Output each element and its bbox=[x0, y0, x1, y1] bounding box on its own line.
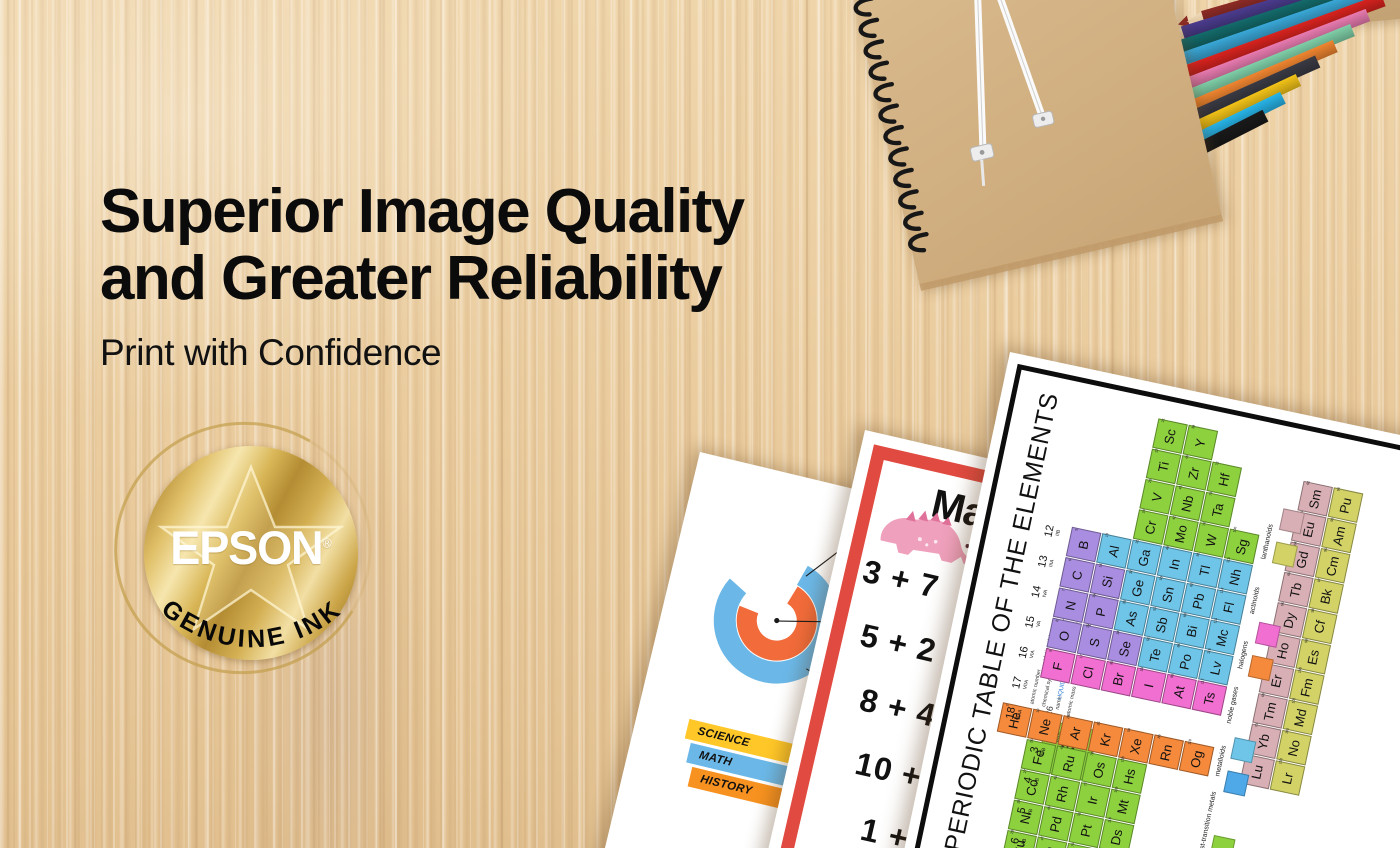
element-symbol: Ag bbox=[1039, 839, 1059, 848]
element-symbol: S bbox=[1084, 627, 1104, 658]
element-atomic-number: 31 bbox=[1135, 539, 1140, 544]
element-symbol: Po bbox=[1175, 646, 1195, 677]
headline-block: Superior Image Quality and Greater Relia… bbox=[100, 182, 744, 374]
element-symbol: Tb bbox=[1285, 575, 1305, 606]
element-symbol: Lv bbox=[1206, 653, 1226, 684]
element-symbol: Ge bbox=[1127, 573, 1147, 604]
element-atomic-number: 39 bbox=[1191, 424, 1196, 429]
element-symbol: Os bbox=[1089, 755, 1109, 786]
element-symbol: Rn bbox=[1156, 737, 1176, 768]
element-symbol: V bbox=[1147, 482, 1167, 513]
periodic-element-cell: Ts117 bbox=[1192, 680, 1228, 716]
element-atomic-number: 44 bbox=[1060, 745, 1065, 750]
element-atomic-number: 54 bbox=[1127, 728, 1132, 733]
legend-swatch bbox=[1272, 542, 1298, 568]
element-symbol: At bbox=[1169, 677, 1189, 708]
element-symbol: N bbox=[1060, 590, 1080, 621]
element-symbol: Tl bbox=[1195, 556, 1215, 587]
legend-swatch bbox=[1255, 622, 1281, 648]
element-symbol: Zr bbox=[1184, 458, 1204, 489]
element-symbol: Sc bbox=[1160, 421, 1180, 452]
element-symbol: Bk bbox=[1316, 581, 1336, 612]
element-atomic-number: 46 bbox=[1047, 806, 1052, 811]
element-atomic-number: 62 bbox=[1306, 481, 1311, 486]
element-symbol: O bbox=[1054, 621, 1074, 652]
periodic-element-cell: Rn86 bbox=[1148, 734, 1184, 770]
element-symbol: Pd bbox=[1046, 809, 1066, 840]
element-atomic-number: 35 bbox=[1109, 661, 1114, 666]
element-atomic-number: 86 bbox=[1157, 734, 1162, 739]
element-symbol: Ru bbox=[1058, 748, 1078, 779]
element-symbol: Y bbox=[1190, 428, 1210, 459]
element-atomic-number: 18 bbox=[1066, 715, 1071, 720]
element-symbol: Sm bbox=[1305, 484, 1325, 515]
genuine-ink-arc-text: GENUINE INK bbox=[116, 534, 388, 684]
element-symbol: Sg bbox=[1231, 532, 1251, 563]
periodic-element-cell: I53 bbox=[1131, 667, 1167, 703]
element-atomic-number: 45 bbox=[1053, 775, 1058, 780]
element-atomic-number: 51 bbox=[1152, 606, 1157, 611]
element-atomic-number: 97 bbox=[1317, 578, 1322, 583]
element-atomic-number: 73 bbox=[1209, 491, 1214, 496]
element-atomic-number: 77 bbox=[1083, 782, 1088, 787]
element-atomic-number: 52 bbox=[1146, 637, 1151, 642]
element-atomic-number: 16 bbox=[1085, 624, 1090, 629]
element-atomic-number: 42 bbox=[1172, 515, 1177, 520]
genuine-ink-label: GENUINE INK bbox=[156, 594, 347, 653]
element-atomic-number: 99 bbox=[1304, 639, 1309, 644]
element-atomic-number: 36 bbox=[1096, 721, 1101, 726]
element-atomic-number: 40 bbox=[1185, 455, 1190, 460]
element-atomic-number: 13 bbox=[1105, 533, 1110, 538]
element-symbol: Se bbox=[1115, 634, 1135, 665]
element-atomic-number: 21 bbox=[1161, 418, 1166, 423]
element-atomic-number: 17 bbox=[1079, 654, 1084, 659]
element-atomic-number: 10 bbox=[1036, 708, 1041, 713]
legend-swatch bbox=[1230, 737, 1256, 763]
element-atomic-number: 82 bbox=[1189, 582, 1194, 587]
element-symbol: Cr bbox=[1140, 512, 1160, 543]
periodic-actinoid-cell: Lr103 bbox=[1270, 760, 1306, 796]
headline-line-1: Superior Image Quality bbox=[100, 182, 744, 243]
element-symbol: Sb bbox=[1151, 610, 1171, 641]
element-symbol: As bbox=[1121, 603, 1141, 634]
element-symbol: Nb bbox=[1177, 488, 1197, 519]
element-atomic-number: 96 bbox=[1323, 548, 1328, 553]
element-symbol: Ds bbox=[1106, 822, 1126, 848]
element-symbol: Ir bbox=[1082, 785, 1102, 816]
element-atomic-number: 81 bbox=[1196, 552, 1201, 557]
element-atomic-number: 69 bbox=[1261, 693, 1266, 698]
element-symbol: Pu bbox=[1335, 490, 1355, 521]
element-atomic-number: 34 bbox=[1116, 630, 1121, 635]
element-atomic-number: 95 bbox=[1330, 517, 1335, 522]
element-atomic-number: 14 bbox=[1098, 563, 1103, 568]
legend-swatch bbox=[1279, 508, 1305, 534]
periodic-element-cell: Cl17 bbox=[1070, 654, 1106, 690]
legend-swatch bbox=[1248, 655, 1274, 681]
element-symbol: Kr bbox=[1095, 725, 1115, 756]
element-symbol: Br bbox=[1108, 664, 1128, 695]
element-atomic-number: 41 bbox=[1178, 485, 1183, 490]
element-atomic-number: 66 bbox=[1280, 602, 1285, 607]
element-symbol: Cf bbox=[1309, 612, 1329, 643]
element-atomic-number: 76 bbox=[1090, 752, 1095, 757]
periodic-element-cell: Ds110 bbox=[1099, 819, 1135, 848]
periodic-element-cell: C6 bbox=[1059, 557, 1095, 593]
periodic-element-cell: O8 bbox=[1046, 618, 1082, 654]
element-atomic-number: 6 bbox=[1068, 559, 1072, 562]
element-symbol: Xe bbox=[1126, 731, 1146, 762]
element-symbol: Ti bbox=[1153, 452, 1173, 483]
element-symbol: Hs bbox=[1119, 761, 1139, 792]
periodic-element-cell: Og118 bbox=[1179, 741, 1215, 777]
element-atomic-number: 15 bbox=[1092, 593, 1097, 598]
element-symbol: In bbox=[1164, 549, 1184, 580]
element-symbol: Fl bbox=[1218, 592, 1238, 623]
element-symbol: Bi bbox=[1182, 616, 1202, 647]
element-symbol: Fm bbox=[1296, 672, 1316, 703]
element-symbol: Ga bbox=[1134, 543, 1154, 574]
subject-bar-history-label: HISTORY bbox=[699, 773, 753, 797]
element-symbol: Dy bbox=[1279, 605, 1299, 636]
element-symbol: Ta bbox=[1207, 495, 1227, 526]
element-symbol: Sn bbox=[1158, 579, 1178, 610]
element-symbol: Mt bbox=[1113, 792, 1133, 823]
headline-subhead: Print with Confidence bbox=[100, 332, 744, 374]
element-atomic-number: 74 bbox=[1202, 522, 1207, 527]
legend-swatch bbox=[1223, 770, 1249, 796]
element-atomic-number: 94 bbox=[1336, 487, 1341, 492]
element-atomic-number: 47 bbox=[1040, 836, 1045, 841]
element-atomic-number: 22 bbox=[1154, 448, 1159, 453]
element-symbol: Es bbox=[1303, 642, 1323, 673]
element-symbol: W bbox=[1201, 525, 1221, 556]
element-atomic-number: 65 bbox=[1287, 571, 1292, 576]
element-symbol: Am bbox=[1329, 521, 1349, 552]
element-symbol: Te bbox=[1145, 640, 1165, 671]
element-symbol: F bbox=[1047, 651, 1067, 682]
element-atomic-number: 23 bbox=[1148, 479, 1153, 484]
element-symbol: Ar bbox=[1065, 718, 1085, 749]
element-symbol: Hf bbox=[1214, 465, 1234, 496]
element-atomic-number: 78 bbox=[1077, 812, 1082, 817]
headline-line-2: and Greater Reliability bbox=[100, 249, 744, 310]
periodic-element-cell: N7 bbox=[1053, 587, 1089, 623]
element-symbol: Mc bbox=[1212, 623, 1232, 654]
element-symbol: Pb bbox=[1188, 586, 1208, 617]
element-atomic-number: 49 bbox=[1165, 546, 1170, 551]
element-symbol: Cl bbox=[1078, 657, 1098, 688]
element-symbol: Ts bbox=[1199, 683, 1219, 714]
element-atomic-number: 70 bbox=[1254, 723, 1259, 728]
element-atomic-number: 9 bbox=[1049, 650, 1053, 653]
element-symbol: Tm bbox=[1260, 696, 1280, 727]
element-atomic-number: 85 bbox=[1170, 673, 1175, 678]
element-symbol: Si bbox=[1097, 567, 1117, 598]
element-symbol: Lr bbox=[1277, 763, 1297, 794]
element-symbol: Al bbox=[1104, 536, 1124, 567]
element-atomic-number: 83 bbox=[1183, 613, 1188, 618]
element-symbol: I bbox=[1138, 670, 1158, 701]
element-atomic-number: 24 bbox=[1141, 509, 1146, 514]
element-symbol: Og bbox=[1186, 744, 1206, 775]
element-atomic-number: 53 bbox=[1140, 667, 1145, 672]
periodic-element-cell: Br35 bbox=[1101, 661, 1137, 697]
element-symbol: Rh bbox=[1052, 779, 1072, 810]
element-atomic-number: 8 bbox=[1055, 619, 1059, 622]
element-symbol: No bbox=[1284, 733, 1304, 764]
element-symbol: C bbox=[1067, 560, 1087, 591]
periodic-element-cell: F9 bbox=[1040, 648, 1076, 684]
element-symbol: Nh bbox=[1225, 562, 1245, 593]
element-atomic-number: 84 bbox=[1176, 643, 1181, 648]
element-atomic-number: 7 bbox=[1061, 589, 1065, 592]
element-symbol: Pt bbox=[1076, 816, 1096, 847]
subject-bar-math-label: MATH bbox=[698, 749, 733, 769]
element-symbol: B bbox=[1073, 530, 1093, 561]
element-atomic-number: 98 bbox=[1310, 608, 1315, 613]
element-atomic-number: 50 bbox=[1159, 576, 1164, 581]
element-atomic-number: 32 bbox=[1129, 570, 1134, 575]
element-atomic-number: 79 bbox=[1071, 842, 1076, 847]
epson-genuine-ink-badge: EPSON® GENUINE INK bbox=[118, 424, 386, 692]
element-symbol: Cm bbox=[1322, 551, 1342, 582]
element-atomic-number: 33 bbox=[1122, 600, 1127, 605]
periodic-element-cell: At85 bbox=[1161, 674, 1197, 710]
periodic-element-cell: B5 bbox=[1066, 527, 1102, 563]
element-atomic-number: 5 bbox=[1074, 528, 1078, 531]
element-atomic-number: 72 bbox=[1215, 461, 1220, 466]
element-symbol: Md bbox=[1290, 703, 1310, 734]
element-symbol: Mo bbox=[1171, 519, 1191, 550]
element-symbol: P bbox=[1091, 597, 1111, 628]
